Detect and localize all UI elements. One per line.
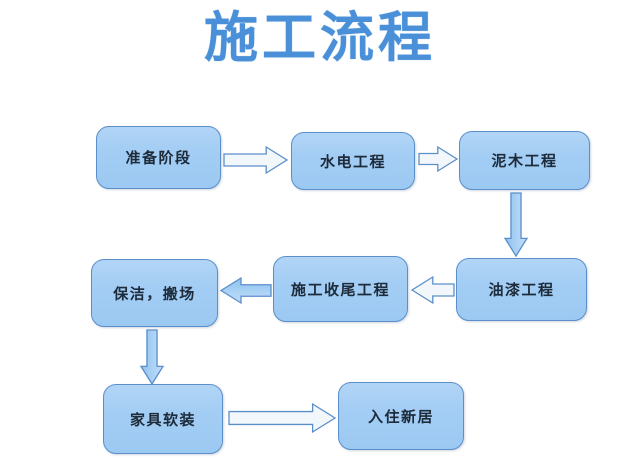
process-node-mep[interactable]: 水电工程 bbox=[291, 132, 415, 190]
process-node-label: 入住新居 bbox=[368, 406, 434, 427]
process-node-paint[interactable]: 油漆工程 bbox=[456, 258, 587, 321]
process-node-finishing[interactable]: 施工收尾工程 bbox=[273, 256, 408, 322]
process-node-moveins[interactable]: 入住新居 bbox=[338, 382, 464, 450]
flowchart-canvas: 施工流程 准备阶段水电工程泥木工程油漆工程施工收尾工程保洁，搬场家具软装入住新居 bbox=[0, 0, 640, 468]
process-node-label: 家具软装 bbox=[130, 409, 196, 430]
process-node-label: 水电工程 bbox=[320, 151, 386, 172]
flow-arrow-cleaning-to-furniture bbox=[141, 330, 163, 384]
flow-arrow-paint-to-finishing bbox=[412, 277, 454, 303]
process-node-label: 施工收尾工程 bbox=[291, 279, 390, 300]
process-node-prep[interactable]: 准备阶段 bbox=[96, 126, 221, 189]
flow-arrow-furniture-to-moveins bbox=[229, 404, 335, 432]
flow-arrow-finishing-to-cleaning bbox=[221, 278, 271, 303]
process-node-label: 保洁，搬场 bbox=[113, 283, 196, 304]
flow-arrow-prep-to-mep bbox=[224, 147, 287, 173]
flow-arrow-mep-to-masonry bbox=[419, 147, 457, 171]
process-node-furniture[interactable]: 家具软装 bbox=[103, 384, 223, 454]
process-node-cleaning[interactable]: 保洁，搬场 bbox=[91, 259, 218, 327]
process-node-label: 油漆工程 bbox=[488, 279, 554, 300]
process-node-masonry[interactable]: 泥木工程 bbox=[459, 131, 590, 190]
process-node-label: 准备阶段 bbox=[125, 147, 191, 168]
page-title: 施工流程 bbox=[0, 6, 640, 68]
flow-arrow-masonry-to-paint bbox=[505, 193, 527, 256]
process-node-label: 泥木工程 bbox=[491, 150, 557, 171]
